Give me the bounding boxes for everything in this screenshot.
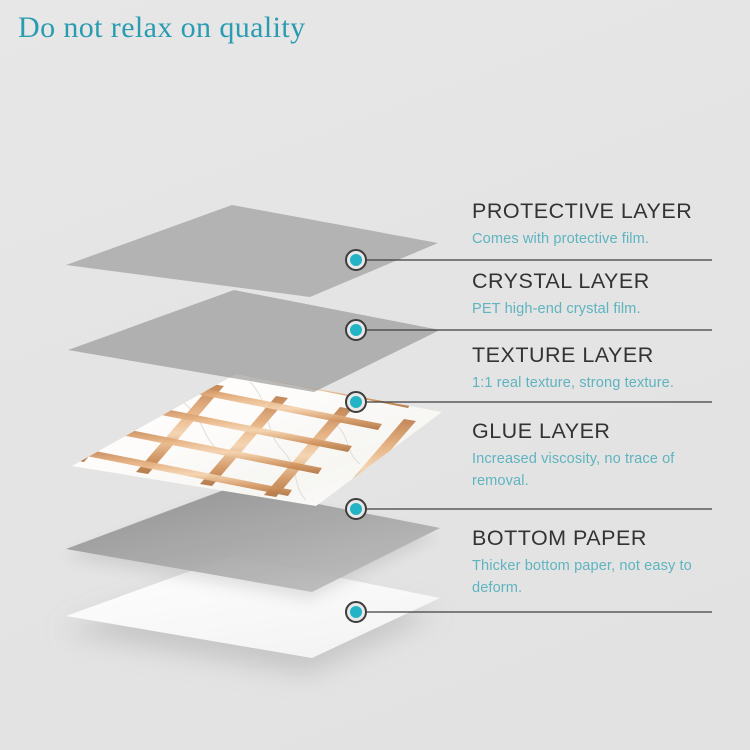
layer-shape-texture <box>72 360 442 509</box>
layer-shape-glue <box>66 487 440 592</box>
callout-texture-layer: TEXTURE LAYER 1:1 real texture, strong t… <box>472 344 722 394</box>
callout-subtitle: Thicker bottom paper, not easy to deform… <box>472 555 722 600</box>
callout-title: GLUE LAYER <box>472 420 722 443</box>
marker-texture-layer[interactable] <box>345 391 367 413</box>
callout-glue-layer: GLUE LAYER Increased viscosity, no trace… <box>472 420 722 493</box>
marker-bottom-paper[interactable] <box>345 601 367 623</box>
callout-bottom-paper: BOTTOM PAPER Thicker bottom paper, not e… <box>472 527 722 600</box>
callout-subtitle: 1:1 real texture, strong texture. <box>472 372 722 395</box>
callout-protective-layer: PROTECTIVE LAYER Comes with protective f… <box>472 200 722 250</box>
marker-crystal-layer[interactable] <box>345 319 367 341</box>
layer-shape-bottom-paper <box>66 555 442 658</box>
callout-title: PROTECTIVE LAYER <box>472 200 722 223</box>
callout-title: TEXTURE LAYER <box>472 344 722 367</box>
layer-shape-protective <box>66 205 438 297</box>
page-title: Do not relax on quality <box>18 11 305 45</box>
marker-protective-layer[interactable] <box>345 249 367 271</box>
marker-glue-layer[interactable] <box>345 498 367 520</box>
layer-shape-crystal <box>68 290 440 392</box>
callout-crystal-layer: CRYSTAL LAYER PET high-end crystal film. <box>472 270 722 320</box>
infographic-canvas: Do not relax on quality <box>0 0 750 750</box>
callout-subtitle: Increased viscosity, no trace of removal… <box>472 448 722 493</box>
callout-subtitle: PET high-end crystal film. <box>472 298 722 321</box>
callout-title: BOTTOM PAPER <box>472 527 722 550</box>
callout-subtitle: Comes with protective film. <box>472 228 722 251</box>
callout-title: CRYSTAL LAYER <box>472 270 722 293</box>
